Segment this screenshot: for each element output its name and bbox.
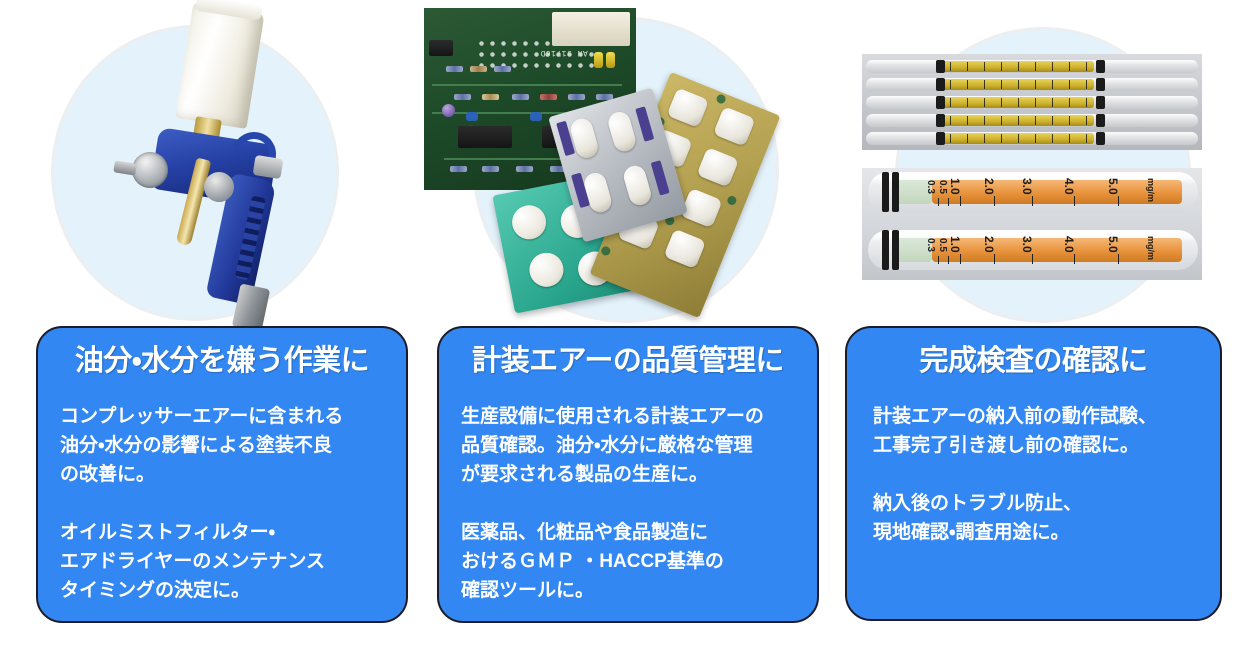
panel-body-line: の改善に。 [60, 460, 406, 489]
panel-body-line: 医薬品、化粧品や食品製造に [461, 518, 817, 547]
paragraph-spacer [461, 489, 817, 518]
panel-instrument-air-quality[interactable]: 計装エアーの品質管理に 生産設備に使用される計装エアーの 品質確認。油分・水分に… [437, 326, 819, 623]
panel-body-line: 工事完了引き渡し前の確認に。 [873, 431, 1220, 460]
panel-body: 計装エアーの納入前の動作試験、 工事完了引き渡し前の確認に。 納入後のトラブル防… [847, 402, 1220, 547]
panel-body-line: 現地確認・調査用途に。 [873, 518, 1220, 547]
caption-panels: 油分・水分を嫌う作業に コンプレッサーエアーに含まれる 油分・水分の影響による塗… [0, 0, 1243, 647]
panel-body-line: 確認ツールに。 [461, 576, 817, 605]
panel-oil-water-sensitive-work[interactable]: 油分・水分を嫌う作業に コンプレッサーエアーに含まれる 油分・水分の影響による塗… [36, 326, 408, 623]
panel-body: コンプレッサーエアーに含まれる 油分・水分の影響による塗装不良 の改善に。 オイ… [38, 402, 406, 605]
panel-body-line: 品質確認。油分・水分に厳格な管理 [461, 431, 817, 460]
panel-title: 計装エアーの品質管理に [439, 346, 817, 378]
panel-body-line: 生産設備に使用される計装エアーの [461, 402, 817, 431]
panel-body-line: タイミングの決定に。 [60, 576, 406, 605]
panel-body-line: 計装エアーの納入前の動作試験、 [873, 402, 1220, 431]
panel-body: 生産設備に使用される計装エアーの 品質確認。油分・水分に厳格な管理 が要求される… [439, 402, 817, 605]
panel-title: 完成検査の確認に [847, 346, 1220, 378]
panel-body-line: オイルミストフィルター・ [60, 518, 406, 547]
panel-body-line: コンプレッサーエアーに含まれる [60, 402, 406, 431]
paragraph-spacer [60, 489, 406, 518]
paragraph-spacer [873, 460, 1220, 489]
panel-body-line: おけるＧＭＰ ・HACCP基準の [461, 547, 817, 576]
panel-title: 油分・水分を嫌う作業に [38, 346, 406, 378]
panel-body-line: が要求される製品の生産に。 [461, 460, 817, 489]
panel-body-line: エアドライヤーのメンテナンス [60, 547, 406, 576]
panel-completion-inspection[interactable]: 完成検査の確認に 計装エアーの納入前の動作試験、 工事完了引き渡し前の確認に。 … [845, 326, 1222, 621]
panel-body-line: 納入後のトラブル防止、 [873, 489, 1220, 518]
panel-body-line: 油分・水分の影響による塗装不良 [60, 431, 406, 460]
